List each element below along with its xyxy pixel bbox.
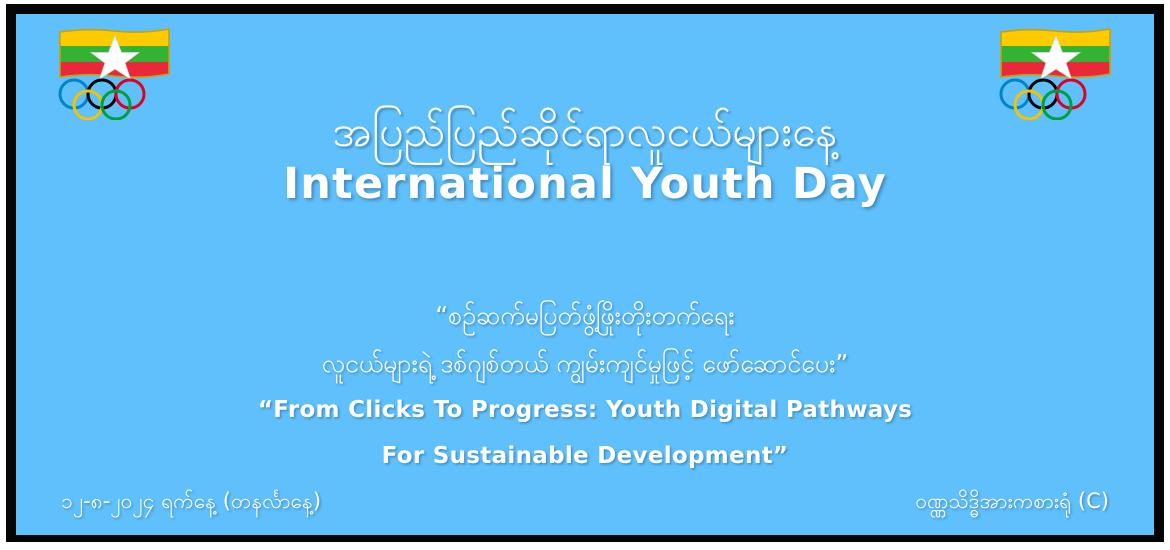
- theme-burmese-line-1: “စဉ်ဆက်မပြတ်ဖွံ့ဖြိုးတိုးတက်ရေး: [16, 292, 1154, 340]
- banner-frame: အပြည်ပြည်ဆိုင်ရာလူငယ်များနေ့ Internation…: [6, 4, 1164, 542]
- banner-canvas: အပြည်ပြည်ဆိုင်ရာလူငယ်များနေ့ Internation…: [16, 14, 1154, 535]
- myanmar-flag-icon: [999, 28, 1112, 80]
- theme-english-line-1: “From Clicks To Progress: Youth Digital …: [16, 387, 1154, 433]
- theme-block: “စဉ်ဆက်မပြတ်ဖွံ့ဖြိုးတိုးတက်ရေး လူငယ်မျာ…: [16, 292, 1154, 479]
- theme-english-line-2: For Sustainable Development”: [16, 433, 1154, 479]
- page-title-burmese: အပြည်ပြည်ဆိုင်ရာလူငယ်များနေ့: [16, 106, 1154, 158]
- event-date: ၁၂-၈-၂၀၂၄ ရက်နေ့ (တနင်္လာနေ့): [61, 488, 321, 519]
- myanmar-flag-icon: [58, 28, 171, 80]
- headline-block: အပြည်ပြည်ဆိုင်ရာလူငယ်များနေ့ Internation…: [16, 106, 1154, 210]
- footer-block: ၁၂-၈-၂၀၂၄ ရက်နေ့ (တနင်္လာနေ့) ဝဏ္ဏသိဒ္ဓိ…: [16, 485, 1154, 519]
- theme-burmese-line-2: လူငယ်များရဲ့ ဒစ်ဂျစ်တယ် ကျွမ်းကျင်မှုဖြင…: [16, 340, 1154, 388]
- event-venue: ဝဏ္ဏသိဒ္ဓိအားကစားရုံ (C): [915, 488, 1109, 519]
- page-title-english: International Youth Day: [16, 160, 1154, 209]
